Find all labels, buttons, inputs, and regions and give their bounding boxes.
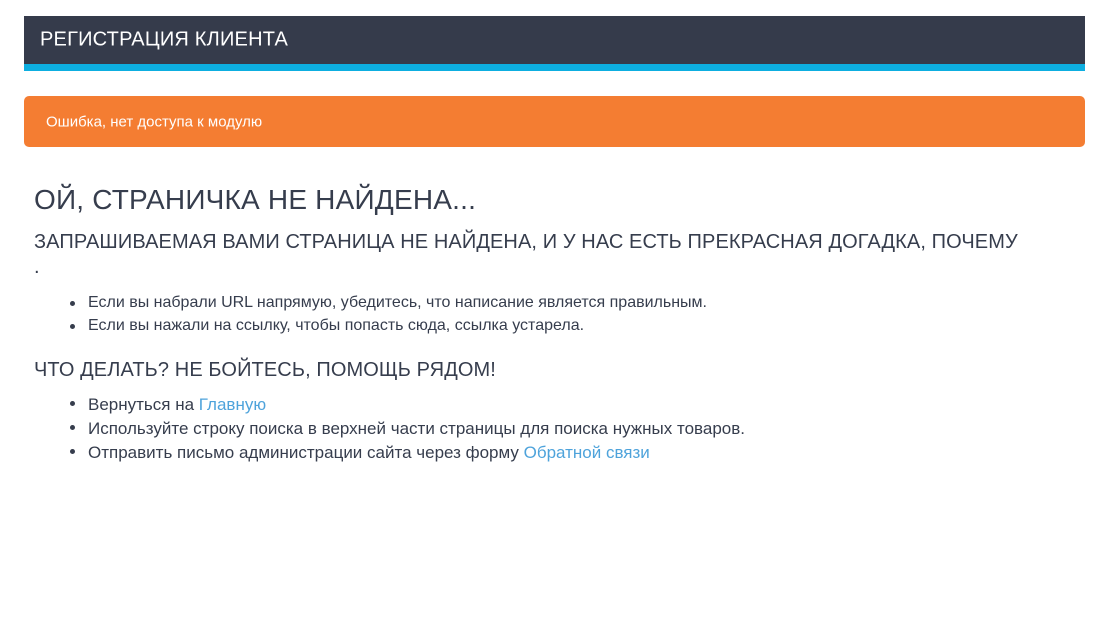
- page-title: РЕГИСТРАЦИЯ КЛИЕНТА: [40, 29, 288, 52]
- error-alert-message: Ошибка, нет доступа к модулю: [46, 113, 262, 130]
- header-accent-bar: [24, 64, 1085, 71]
- list-item: Используйте строку поиска в верхней част…: [70, 417, 1074, 441]
- list-item: Если вы нажали на ссылку, чтобы попасть …: [70, 316, 1074, 336]
- action-text-prefix: Отправить письмо администрации сайта чер…: [88, 443, 524, 462]
- help-subtitle: ЧТО ДЕЛАТЬ? НЕ БОЙТЕСЬ, ПОМОЩЬ РЯДОМ!: [34, 358, 1074, 382]
- module-header: РЕГИСТРАЦИЯ КЛИЕНТА: [24, 16, 1085, 64]
- not-found-title: ОЙ, СТРАНИЧКА НЕ НАЙДЕНА...: [34, 183, 1074, 216]
- action-list: Вернуться на Главную Используйте строку …: [34, 393, 1074, 465]
- not-found-lead: ЗАПРАШИВАЕМАЯ ВАМИ СТРАНИЦА НЕ НАЙДЕНА, …: [34, 230, 1024, 280]
- reason-list: Если вы набрали URL напрямую, убедитесь,…: [34, 293, 1074, 336]
- home-link[interactable]: Главную: [199, 395, 266, 414]
- reason-text: Если вы набрали URL напрямую, убедитесь,…: [88, 294, 707, 311]
- action-text-prefix: Используйте строку поиска в верхней част…: [88, 419, 745, 438]
- list-item: Отправить письмо администрации сайта чер…: [70, 441, 1074, 465]
- content-area: ОЙ, СТРАНИЧКА НЕ НАЙДЕНА... ЗАПРАШИВАЕМА…: [34, 183, 1074, 465]
- reason-text: Если вы нажали на ссылку, чтобы попасть …: [88, 317, 584, 334]
- list-item: Если вы набрали URL напрямую, убедитесь,…: [70, 293, 1074, 313]
- action-text-prefix: Вернуться на: [88, 395, 199, 414]
- list-item: Вернуться на Главную: [70, 393, 1074, 417]
- page-root: РЕГИСТРАЦИЯ КЛИЕНТА Ошибка, нет доступа …: [0, 0, 1104, 634]
- feedback-link[interactable]: Обратной связи: [524, 443, 650, 462]
- error-alert: Ошибка, нет доступа к модулю: [24, 96, 1085, 147]
